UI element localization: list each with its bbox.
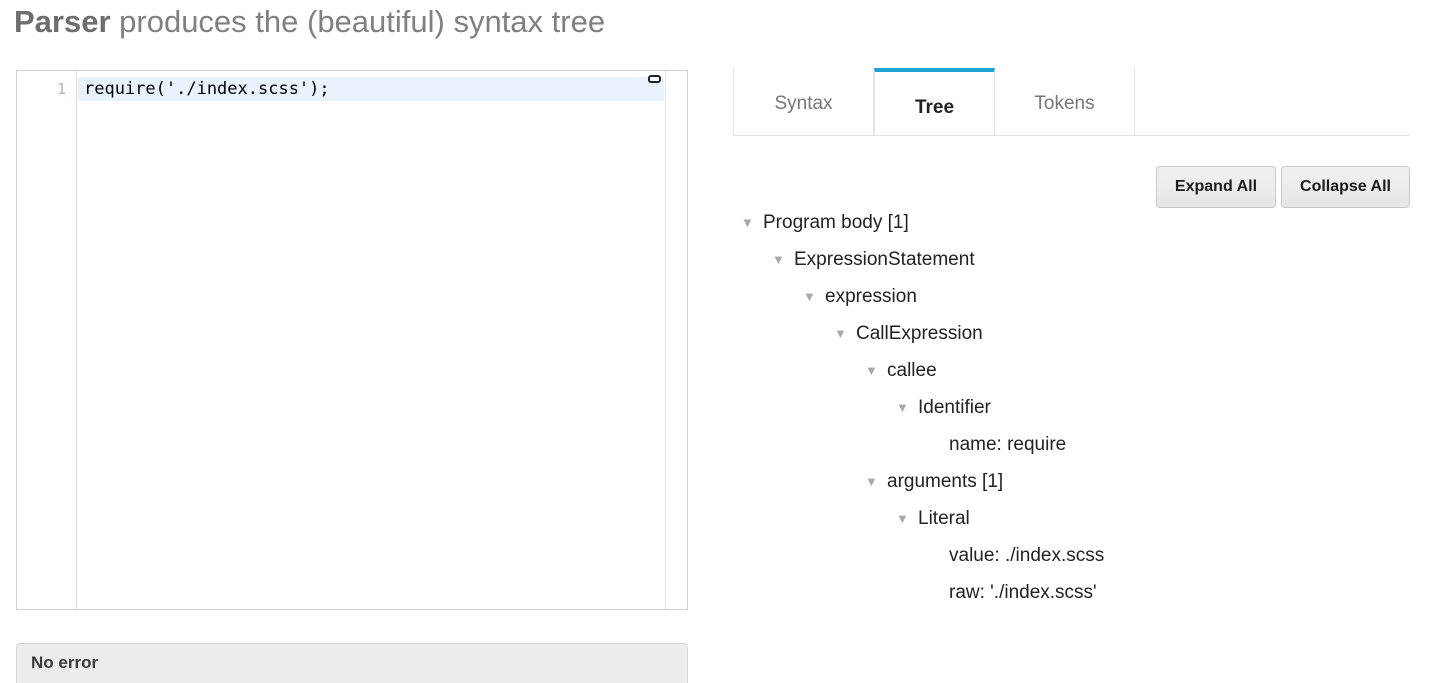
- editor-scrollbar-thumb-icon[interactable]: [648, 75, 661, 83]
- tree-toolbar: Expand All Collapse All: [1156, 166, 1410, 208]
- tab-syntax[interactable]: Syntax: [733, 68, 874, 135]
- tree-node[interactable]: ▼callee: [741, 352, 1431, 389]
- expand-all-button[interactable]: Expand All: [1156, 166, 1276, 208]
- tab-syntax-label: Syntax: [734, 93, 873, 115]
- tree-leaf-label: value: ./index.scss: [949, 537, 1104, 574]
- tree-node[interactable]: ▼expression: [741, 278, 1431, 315]
- tree-node-label: Identifier: [918, 389, 991, 426]
- editor-code-area[interactable]: require('./index.scss');: [78, 71, 664, 609]
- editor-scrollbar-track[interactable]: [665, 71, 687, 609]
- tree-node-label: CallExpression: [856, 315, 983, 352]
- tree-leaf: raw: './index.scss': [741, 574, 1431, 611]
- tree-node-label: Literal: [918, 500, 970, 537]
- tab-bar: Syntax Tree Tokens: [733, 68, 1410, 136]
- tree-leaf-label: raw: './index.scss': [949, 574, 1097, 611]
- collapse-all-button[interactable]: Collapse All: [1281, 166, 1410, 208]
- page-title-strong: Parser: [14, 4, 111, 39]
- tree-node-label: callee: [887, 352, 937, 389]
- code-text: require('./index.scss');: [78, 77, 664, 101]
- chevron-down-icon[interactable]: ▼: [803, 278, 825, 315]
- tree-node-label: expression: [825, 278, 917, 315]
- tree-node[interactable]: ▼CallExpression: [741, 315, 1431, 352]
- editor-gutter: 1: [17, 71, 77, 609]
- error-panel-text: No error: [17, 644, 687, 673]
- chevron-down-icon[interactable]: ▼: [772, 241, 794, 278]
- tree-node[interactable]: ▼Program body [1]: [741, 204, 1431, 241]
- page-title: Parser produces the (beautiful) syntax t…: [14, 2, 605, 42]
- chevron-down-icon[interactable]: ▼: [896, 389, 918, 426]
- tree-leaf-label: name: require: [949, 426, 1066, 463]
- tab-tokens-label: Tokens: [995, 93, 1134, 115]
- tree-node[interactable]: ▼ExpressionStatement: [741, 241, 1431, 278]
- active-code-line[interactable]: require('./index.scss');: [78, 77, 664, 101]
- tree-node-label: arguments [1]: [887, 463, 1003, 500]
- tree-node[interactable]: ▼arguments [1]: [741, 463, 1431, 500]
- tree-node-label: ExpressionStatement: [794, 241, 975, 278]
- tab-tree[interactable]: Tree: [874, 68, 995, 135]
- syntax-tree: ▼Program body [1] ▼ExpressionStatement ▼…: [741, 204, 1431, 611]
- chevron-down-icon[interactable]: ▼: [741, 204, 763, 241]
- chevron-down-icon[interactable]: ▼: [865, 352, 887, 389]
- tab-tokens[interactable]: Tokens: [995, 68, 1135, 135]
- tree-leaf: name: require: [741, 426, 1431, 463]
- tree-node[interactable]: ▼Literal: [741, 500, 1431, 537]
- line-number: 1: [57, 78, 66, 100]
- chevron-down-icon[interactable]: ▼: [834, 315, 856, 352]
- chevron-down-icon[interactable]: ▼: [896, 500, 918, 537]
- tree-node-label: Program body [1]: [763, 204, 909, 241]
- page-title-rest: produces the (beautiful) syntax tree: [111, 4, 606, 39]
- tab-tree-label: Tree: [875, 97, 994, 119]
- error-panel: No error: [16, 643, 688, 683]
- chevron-down-icon[interactable]: ▼: [865, 463, 887, 500]
- tree-node[interactable]: ▼Identifier: [741, 389, 1431, 426]
- tree-leaf: value: ./index.scss: [741, 537, 1431, 574]
- code-editor[interactable]: 1 require('./index.scss');: [16, 70, 688, 610]
